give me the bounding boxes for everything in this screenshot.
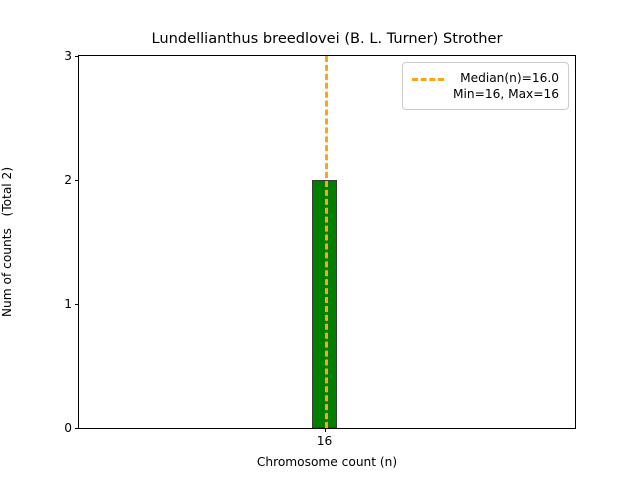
plot-area: 0 1 2 3 16 Median(n)=16.0 Min=16, Max=16	[78, 55, 576, 429]
median-line	[325, 56, 328, 428]
ytick-label-0: 0	[64, 421, 72, 435]
legend-dashed-line-icon	[412, 78, 444, 81]
chart-figure: Lundellianthus breedlovei (B. L. Turner)…	[0, 0, 640, 480]
ytick-label-2: 2	[64, 173, 72, 187]
xtick-label-16: 16	[317, 434, 333, 448]
ytick-label-3: 3	[64, 49, 72, 63]
x-axis-label: Chromosome count (n)	[78, 455, 576, 469]
ytick-mark	[75, 428, 79, 429]
plot-inner	[79, 56, 575, 428]
ytick-label-1: 1	[64, 297, 72, 311]
ytick-mark	[75, 180, 79, 181]
legend-labels: Median(n)=16.0 Min=16, Max=16	[453, 70, 559, 102]
legend-label-minmax: Min=16, Max=16	[453, 86, 559, 102]
legend-label-median: Median(n)=16.0	[460, 70, 559, 86]
y-axis-label: Num of counts (Total 2)	[0, 55, 40, 429]
ytick-mark	[75, 56, 79, 57]
chart-title: Lundellianthus breedlovei (B. L. Turner)…	[78, 30, 576, 47]
ytick-mark	[75, 304, 79, 305]
xtick-mark	[325, 428, 326, 432]
chart-legend: Median(n)=16.0 Min=16, Max=16	[402, 62, 569, 110]
